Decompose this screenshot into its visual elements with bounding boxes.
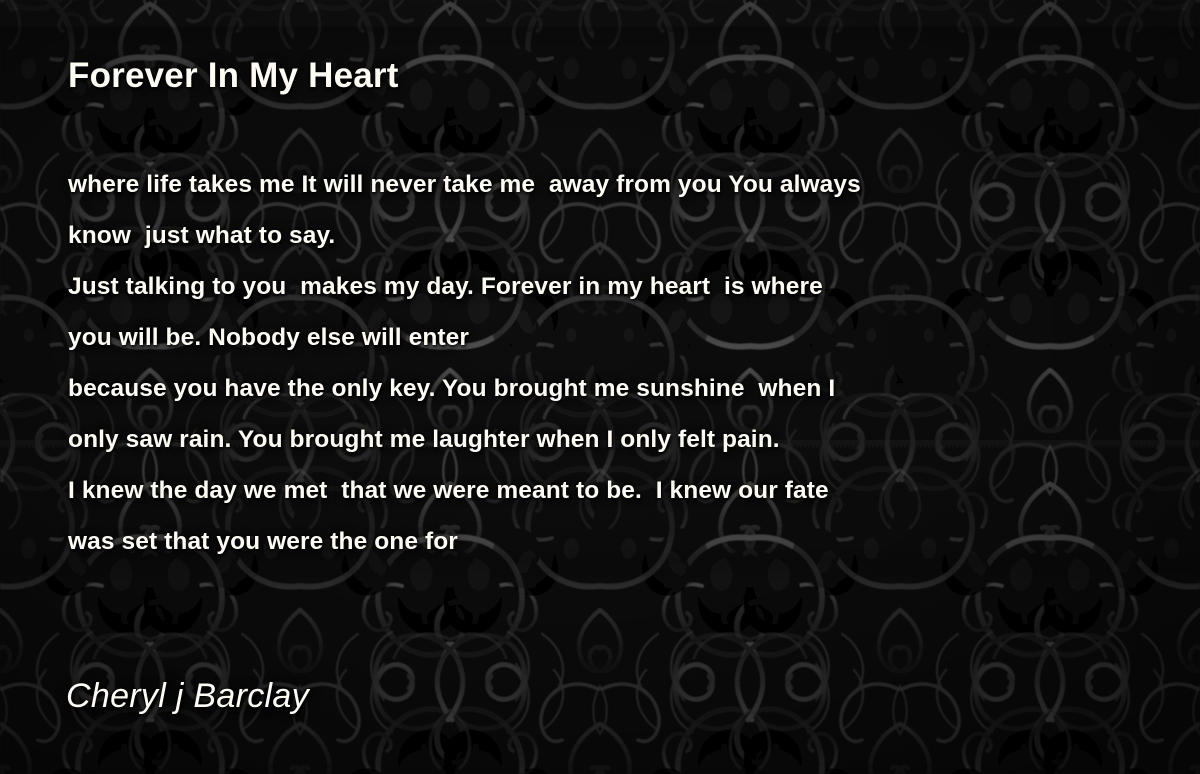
poem-body: where life takes me It will never take m…	[68, 159, 1128, 567]
poem-line: only saw rain. You brought me laughter w…	[68, 414, 1128, 465]
poem-line: because you have the only key. You broug…	[68, 363, 1128, 414]
poem-title: Forever In My Heart	[68, 54, 399, 98]
poem-image-card: Forever In My Heart where life takes me …	[0, 0, 1200, 774]
poem-line: was set that you were the one for	[68, 516, 1128, 567]
poem-line: I knew the day we met that we were meant…	[68, 465, 1128, 516]
poem-line: where life takes me It will never take m…	[68, 159, 1128, 210]
poem-line: know just what to say.	[68, 210, 1128, 261]
poem-line: you will be. Nobody else will enter	[68, 312, 1128, 363]
poem-content: Forever In My Heart where life takes me …	[0, 0, 1200, 774]
poem-line: Just talking to you makes my day. Foreve…	[68, 261, 1128, 312]
poem-author-signature: Cheryl j Barclay	[66, 675, 309, 717]
